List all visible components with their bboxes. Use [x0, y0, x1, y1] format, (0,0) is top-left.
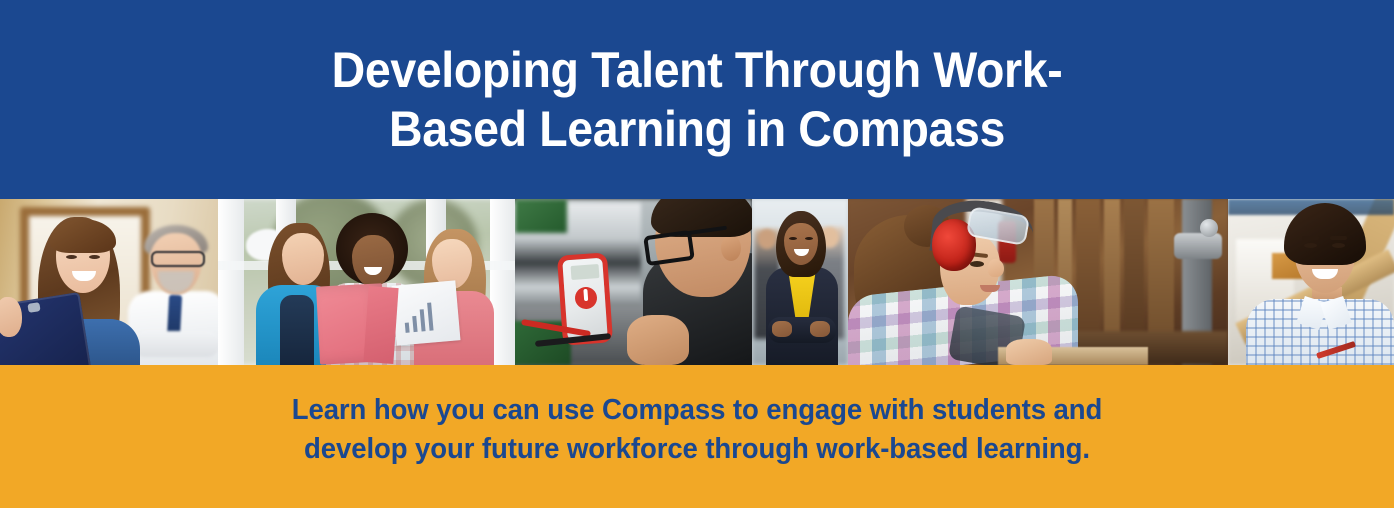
photo2-chart-paper [392, 280, 461, 345]
photo1-mentor-arms [132, 331, 218, 357]
header-band: Developing Talent Through Work- Based Le… [0, 0, 1394, 199]
photo3-student-ear [721, 235, 741, 261]
photo-business-student-arms-crossed [752, 199, 848, 365]
photo5-student-eye [970, 261, 984, 267]
photo-construction-student-portrait [1228, 199, 1394, 365]
photo5-student-nose [988, 259, 1004, 277]
photo3-circuit-board-top [515, 199, 567, 233]
work-based-learning-banner: Developing Talent Through Work- Based Le… [0, 0, 1394, 508]
photo2-pink-folder-flap [363, 286, 398, 364]
photo1-mentor-glasses [151, 251, 205, 267]
photo4-student-eye-left [789, 237, 797, 240]
photo1-student-hand [0, 297, 22, 337]
photo1-student-eye-left [66, 255, 77, 259]
photo4-student-eye-right [805, 237, 813, 240]
photo-woodshop-student-with-ear-protection [848, 199, 1228, 365]
photo1-student-eye-right [89, 255, 100, 259]
cta-subtitle: Learn how you can use Compass to engage … [260, 391, 1134, 469]
photo6-student-brow-right [1330, 236, 1347, 240]
photo5-saw-head [1174, 233, 1222, 259]
photo5-saw-knob [1200, 219, 1218, 237]
photo4-student-hand-left [772, 321, 792, 337]
photo-three-students-reviewing-documents [218, 199, 515, 365]
photo5-student-hand [1006, 339, 1052, 365]
photo6-student-brow-left [1302, 236, 1319, 240]
photo4-background-person-left-face [758, 229, 776, 249]
photo-strip [0, 199, 1394, 365]
photo2-student1-top [280, 295, 314, 365]
photo2-window-mullion-1 [218, 199, 244, 365]
photo4-student-hand-right [810, 321, 830, 337]
photo3-multimeter-display [571, 264, 600, 280]
photo3-student-hand [627, 315, 689, 365]
photo6-student-eye-left [1304, 243, 1317, 248]
photo6-student-eye-right [1332, 243, 1345, 248]
page-title: Developing Talent Through Work- Based Le… [279, 41, 1116, 159]
cta-band: Learn how you can use Compass to engage … [0, 365, 1394, 508]
photo-healthcare-student-with-mentor [0, 199, 218, 365]
photo-electronics-student-with-multimeter [515, 199, 752, 365]
